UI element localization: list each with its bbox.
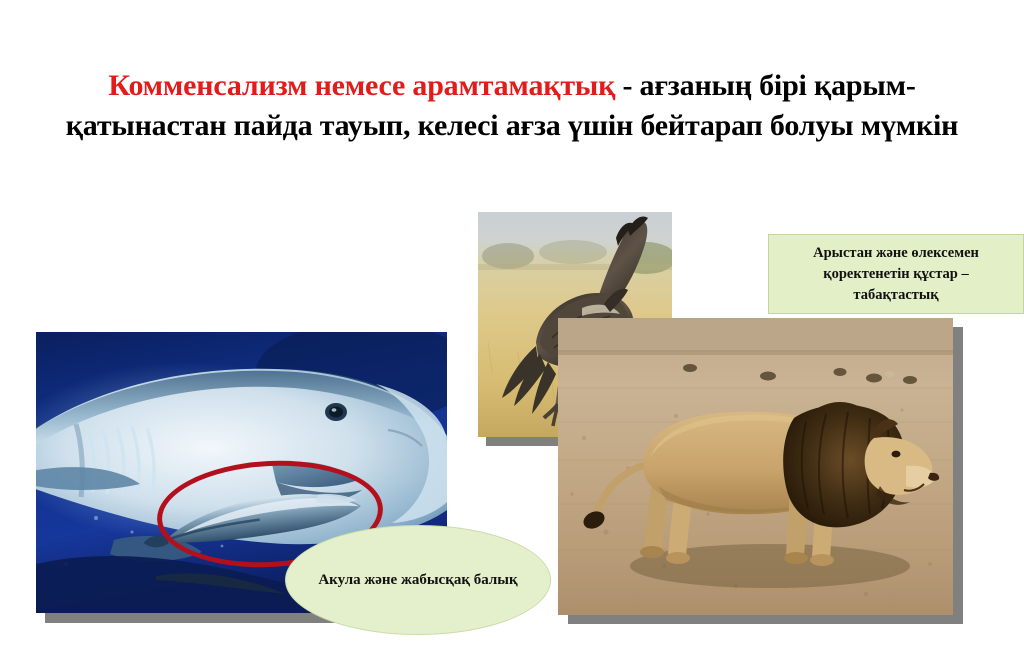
lion-photo-shadow-bottom — [568, 615, 963, 624]
shark-callout-oval: Акула және жабысқақ балық — [285, 525, 551, 635]
shark-eye — [325, 403, 347, 421]
shark-callout-text: Акула және жабысқақ балық — [318, 569, 517, 592]
page-title: Комменсализм немесе арамтамақтық - ағзан… — [60, 66, 964, 146]
lion-illustration — [558, 318, 953, 615]
lion-photo-shadow-right — [953, 327, 963, 624]
page-title-highlight: Комменсализм немесе арамтамақтық — [108, 69, 615, 102]
lion-photo — [558, 318, 953, 615]
lion-callout-box: Арыстан және өлексемен қоректенетін құст… — [768, 234, 1024, 314]
lion-callout-text: Арыстан және өлексемен қоректенетін құст… — [779, 243, 1013, 306]
